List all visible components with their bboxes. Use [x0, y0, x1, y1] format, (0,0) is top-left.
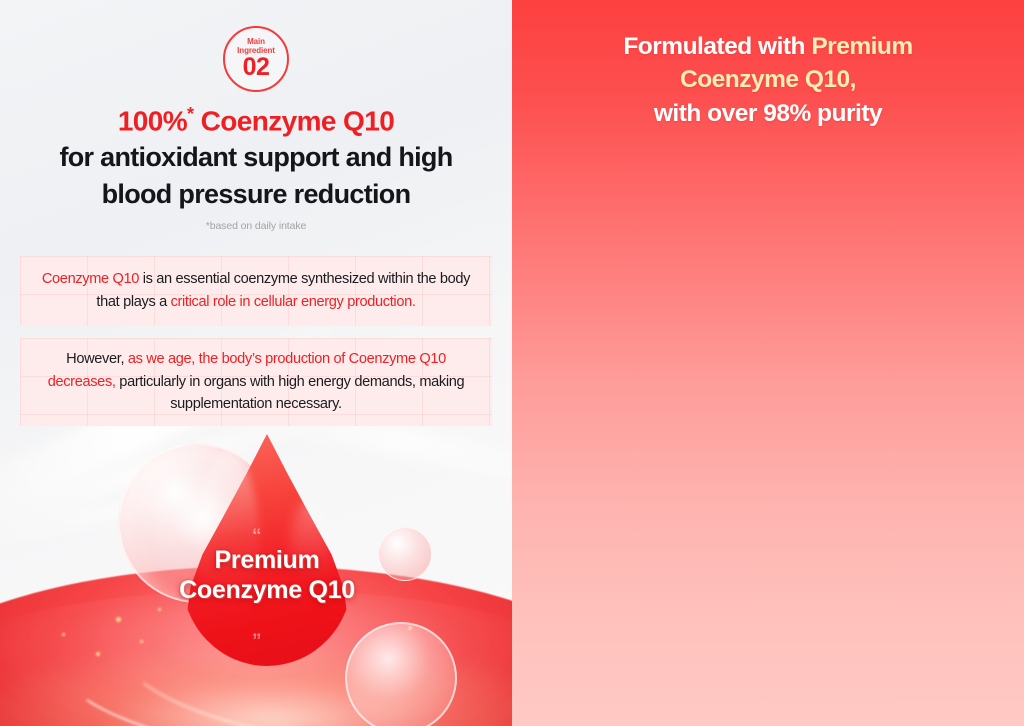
sparkle — [116, 617, 121, 622]
sparkle — [140, 640, 143, 643]
sparkle — [158, 608, 161, 611]
right-panel: Formulated with Premium Coenzyme Q10, wi… — [512, 0, 1024, 726]
info-box-aging: However, as we age, the body’s productio… — [20, 338, 492, 426]
headline-black-line1: for antioxidant support and high — [0, 140, 512, 174]
headline-red: 100%* Coenzyme Q10 — [0, 104, 512, 138]
headline-percent: 100% — [118, 105, 187, 136]
right-panel-heading: Formulated with Premium Coenzyme Q10, wi… — [512, 30, 1024, 130]
page-title: 100%* Coenzyme Q10 for antioxidant suppo… — [0, 104, 512, 211]
sparkle — [96, 652, 100, 656]
left-panel: “ Premium Coenzyme Q10 ” Main Ingredient… — [0, 0, 512, 726]
info-1-em-2: critical role in cellular energy product… — [171, 294, 416, 310]
droplet-label: Premium Coenzyme Q10 — [152, 546, 382, 605]
heading-line1-cream: Premium — [811, 33, 912, 60]
headline-red-rest: Coenzyme Q10 — [193, 105, 394, 136]
sparkle — [408, 626, 412, 630]
badge-number: 02 — [243, 56, 270, 80]
sparkle — [62, 633, 65, 636]
info-1-em-1: Coenzyme Q10 — [42, 271, 139, 287]
info-box-definition: Coenzyme Q10 is an essential coenzyme sy… — [20, 256, 492, 326]
headline-black-line2: blood pressure reduction — [0, 177, 512, 211]
info-box-1-text: Coenzyme Q10 is an essential coenzyme sy… — [20, 268, 492, 313]
ingredient-badge: Main Ingredient 02 — [223, 26, 289, 92]
info-2-plain-1: However, — [66, 351, 128, 367]
headline-footnote: *based on daily intake — [0, 220, 512, 232]
info-2-plain-2: particularly in organs with high energy … — [116, 374, 465, 413]
quote-close-icon: ” — [252, 632, 261, 651]
quote-open-icon: “ — [252, 527, 261, 546]
heading-line3-white: with over 98% purity — [654, 100, 882, 127]
heading-line2-cream: Coenzyme Q10, — [680, 66, 856, 93]
promo-page: “ Premium Coenzyme Q10 ” Main Ingredient… — [0, 0, 1024, 726]
droplet-label-line2: Coenzyme Q10 — [179, 576, 355, 604]
droplet-label-line1: Premium — [215, 546, 320, 574]
info-box-2-text: However, as we age, the body’s productio… — [20, 348, 492, 416]
heading-line1-white: Formulated with — [623, 33, 811, 60]
